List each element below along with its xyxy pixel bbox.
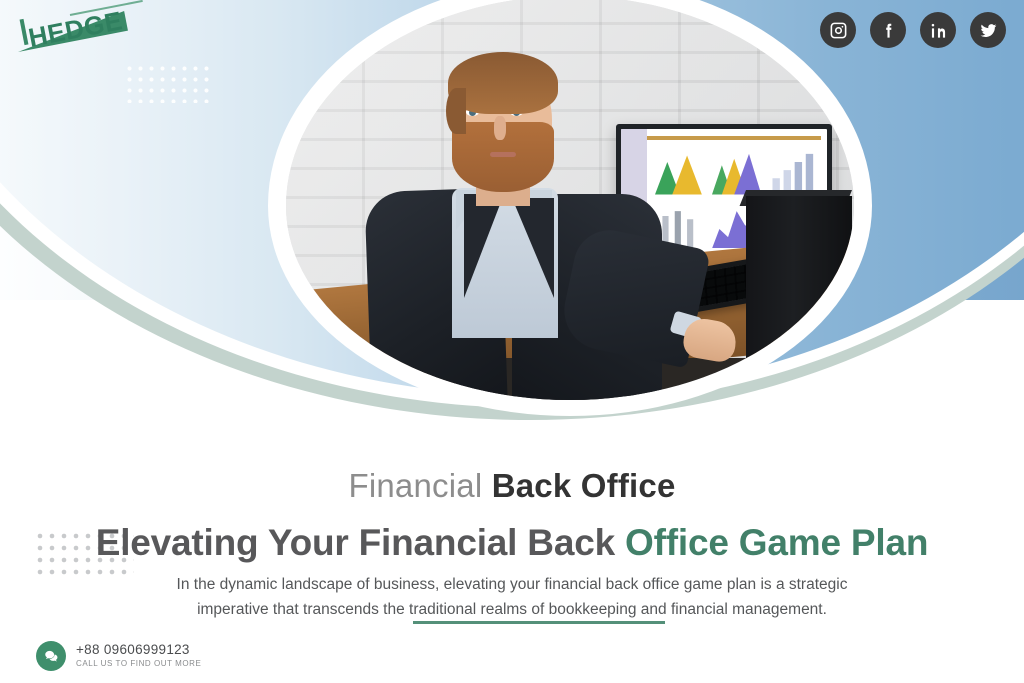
headline-plain-text: Elevating Your Financial Back bbox=[96, 522, 625, 563]
social-links bbox=[820, 12, 1006, 48]
hedge-logo[interactable]: HEDGE bbox=[18, 6, 134, 60]
hair-side bbox=[446, 88, 466, 134]
eyebrow-heading: Financial Back Office bbox=[0, 468, 1024, 504]
accent-divider bbox=[413, 621, 665, 624]
instagram-icon[interactable] bbox=[820, 12, 856, 48]
contact-text: +88 09606999123 CALL US TO FIND OUT MORE bbox=[76, 642, 201, 670]
person-figure bbox=[372, 48, 672, 400]
pc-tower bbox=[746, 196, 852, 400]
contact-block[interactable]: +88 09606999123 CALL US TO FIND OUT MORE bbox=[36, 641, 201, 671]
mini-chart-area-2 bbox=[712, 149, 761, 195]
hero-photo bbox=[286, 0, 854, 400]
nose bbox=[494, 116, 506, 140]
chat-bubble-icon bbox=[36, 641, 66, 671]
dot-grid-top bbox=[124, 63, 214, 103]
linkedin-icon[interactable] bbox=[920, 12, 956, 48]
facebook-icon[interactable] bbox=[870, 12, 906, 48]
eyebrow-bold-text: Back Office bbox=[492, 467, 676, 504]
jacket-lapel-right bbox=[512, 198, 554, 298]
page-title: Elevating Your Financial Back Office Gam… bbox=[0, 522, 1024, 563]
twitter-icon[interactable] bbox=[970, 12, 1006, 48]
promo-banner: HEDGE Financial Back Office Elevating Yo… bbox=[0, 0, 1024, 683]
eyebrow-light-text: Financial bbox=[348, 467, 491, 504]
mini-chart-bar-1 bbox=[770, 149, 819, 195]
contact-tagline: CALL US TO FIND OUT MORE bbox=[76, 659, 201, 669]
mouth bbox=[490, 152, 516, 157]
monitor-topbar bbox=[647, 136, 821, 140]
jacket-lapel-left bbox=[464, 194, 504, 298]
contact-phone[interactable]: +88 09606999123 bbox=[76, 642, 201, 658]
subcopy-paragraph: In the dynamic landscape of business, el… bbox=[140, 572, 884, 622]
headline-accent-text: Office Game Plan bbox=[625, 522, 928, 563]
